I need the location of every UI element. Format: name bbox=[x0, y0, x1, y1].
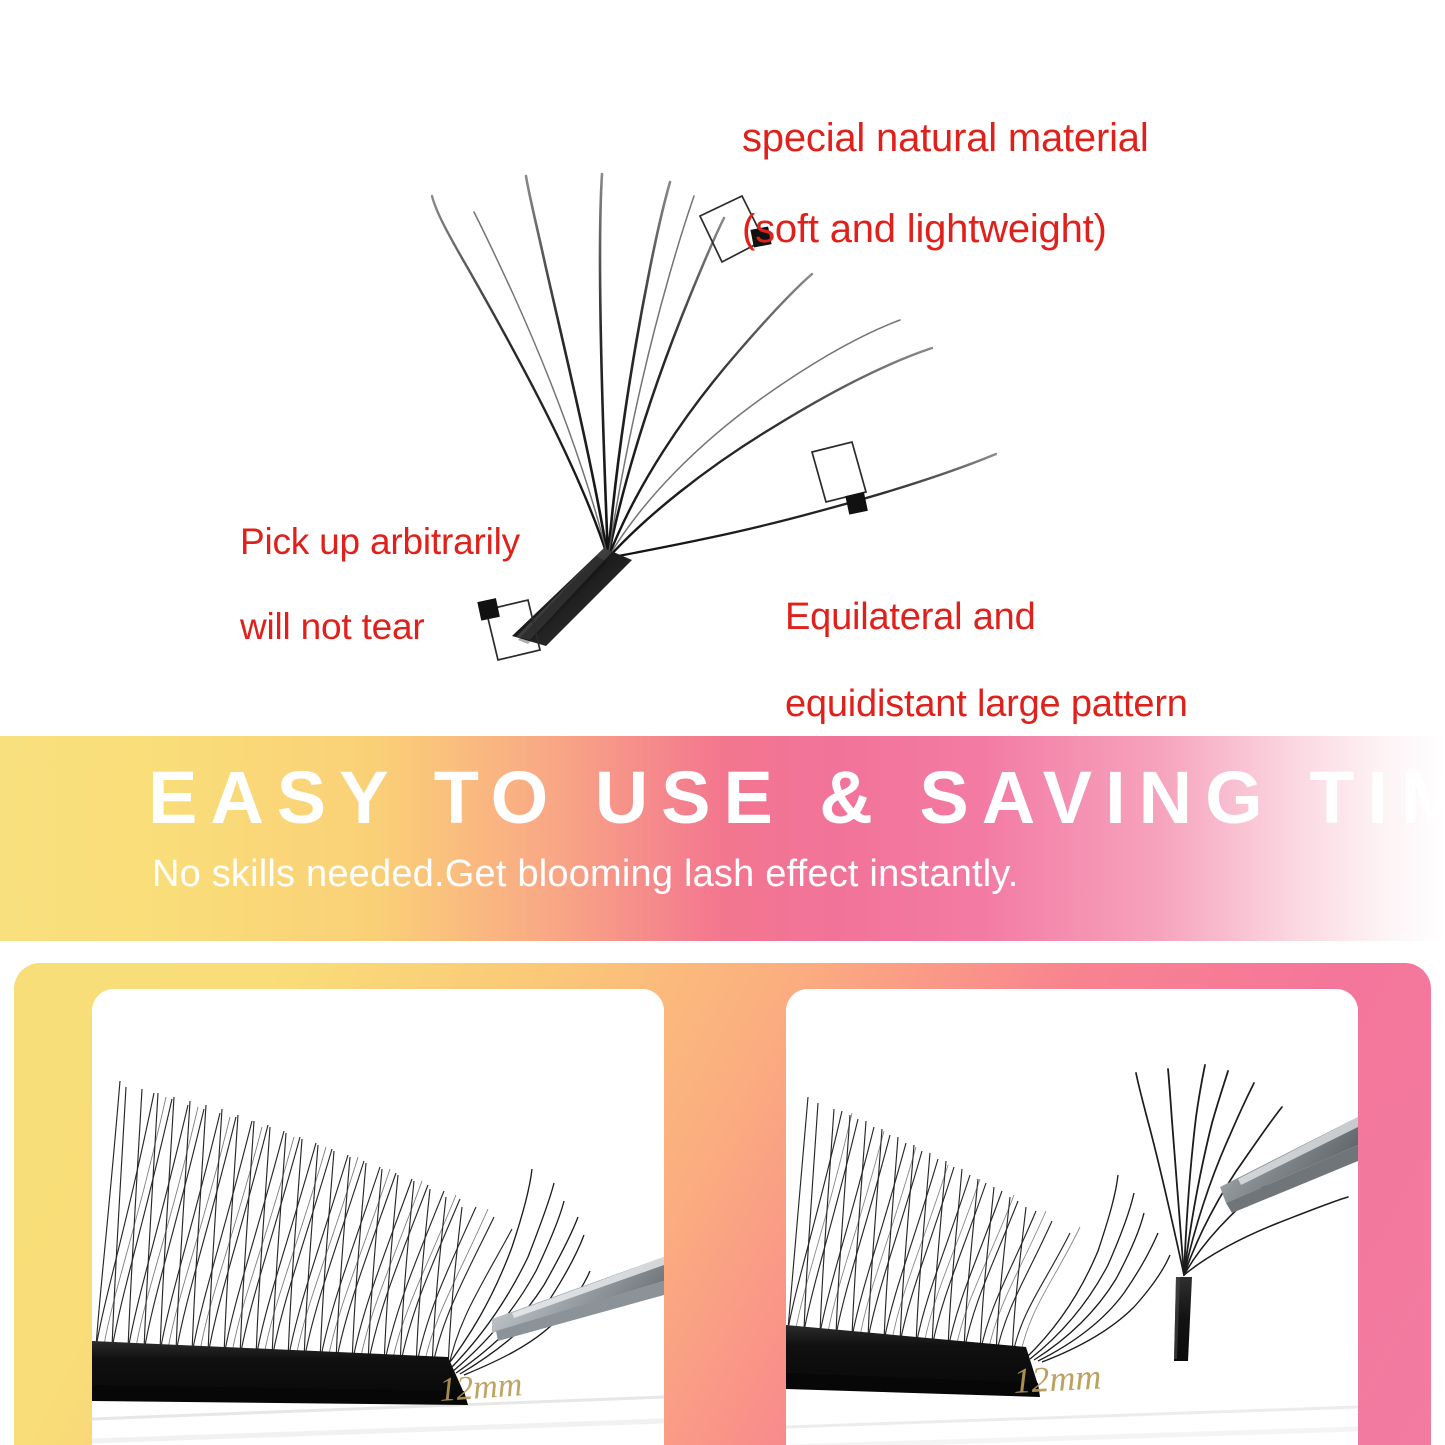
banner-subheadline: No skills needed.Get blooming lash effec… bbox=[152, 855, 1019, 893]
annotation-line-2: equidistant large pattern bbox=[785, 683, 1188, 725]
svg-text:12mm: 12mm bbox=[438, 1366, 523, 1409]
annotation-line-1: Equilateral and bbox=[785, 596, 1036, 638]
banner-headline: EASY TO USE & SAVING TIME bbox=[148, 761, 1308, 835]
svg-text:12mm: 12mm bbox=[1012, 1356, 1102, 1401]
annotation-line-1: special natural material bbox=[742, 116, 1149, 160]
annotation-equilateral: Equilateral and equidistant large patter… bbox=[785, 553, 1188, 726]
size-stamp: 12mm bbox=[1012, 1356, 1102, 1401]
callout-marker-middle-icon bbox=[812, 442, 868, 515]
photo-gallery-frame: 12mm bbox=[14, 963, 1431, 1445]
size-stamp: 12mm bbox=[438, 1366, 523, 1409]
promo-banner: EASY TO USE & SAVING TIME No skills need… bbox=[0, 736, 1445, 941]
annotation-pick-up: Pick up arbitrarily will not tear bbox=[240, 479, 520, 648]
photo-card-lash-tray: 12mm bbox=[92, 989, 664, 1445]
annotation-line-2: will not tear bbox=[240, 606, 425, 647]
photo-card-lash-fan: 12mm bbox=[786, 989, 1358, 1445]
annotation-special-material: special natural material (soft and light… bbox=[742, 70, 1149, 252]
lash-base-band bbox=[512, 548, 632, 646]
hero-diagram-section: special natural material (soft and light… bbox=[0, 0, 1445, 735]
product-feature-page: special natural material (soft and light… bbox=[0, 0, 1445, 1445]
lash-fan-diagram-icon bbox=[0, 0, 1445, 735]
annotation-line-1: Pick up arbitrarily bbox=[240, 521, 520, 562]
lash-strip-fan-pickup-icon: 12mm bbox=[786, 989, 1358, 1445]
lash-strip-with-tweezers-icon: 12mm bbox=[92, 989, 664, 1445]
annotation-line-2: (soft and lightweight) bbox=[742, 207, 1107, 251]
